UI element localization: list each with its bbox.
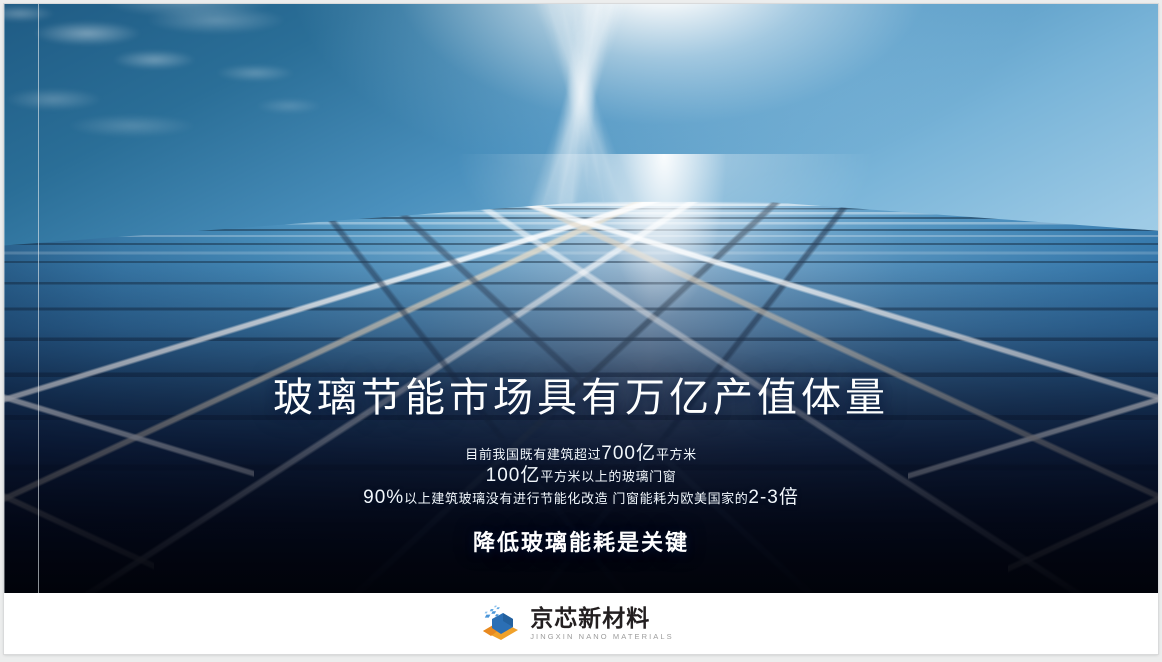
slide-footer: 京芯新材料 JINGXIN NANO MATERIALS (4, 593, 1158, 654)
logo-name-en: JINGXIN NANO MATERIALS (530, 633, 674, 641)
stat-3-value: 90% (363, 487, 404, 508)
kicker-statement: 降低玻璃能耗是关键 (4, 525, 1158, 557)
text-overlay: 玻璃节能市场具有万亿产值体量 目前我国既有建筑超过700亿平方米 100亿平方米… (4, 4, 1158, 593)
stat-line-3: 90%以上建筑玻璃没有进行节能化改造 门窗能耗为欧美国家的2-3倍 (4, 482, 1158, 509)
stat-3-middle: 以上建筑玻璃没有进行节能化改造 门窗能耗为欧美国家的 (404, 491, 748, 506)
page-title: 玻璃节能市场具有万亿产值体量 (4, 376, 1158, 421)
presentation-slide: 玻璃节能市场具有万亿产值体量 目前我国既有建筑超过700亿平方米 100亿平方米… (4, 4, 1158, 654)
company-logo: 京芯新材料 JINGXIN NANO MATERIALS (480, 605, 674, 642)
logo-wordmark: 京芯新材料 JINGXIN NANO MATERIALS (530, 607, 674, 641)
logo-name-cn: 京芯新材料 (530, 607, 674, 630)
jingxin-logo-icon (480, 605, 521, 642)
stat-3-value2: 2-3倍 (748, 487, 798, 508)
background-photo-glass-building: 玻璃节能市场具有万亿产值体量 目前我国既有建筑超过700亿平方米 100亿平方米… (4, 4, 1158, 593)
